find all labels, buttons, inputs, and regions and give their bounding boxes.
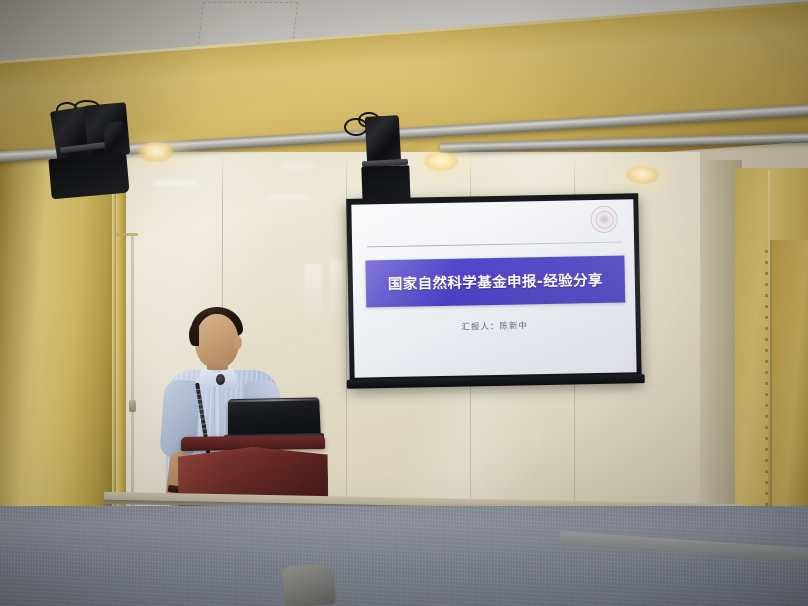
institution-seal-icon: [590, 206, 618, 234]
laptop-lid-highlight: [228, 398, 319, 402]
stage-light-cluster-left: [44, 100, 174, 210]
door-top-edge: [116, 233, 138, 236]
wall-light-reflection: [268, 194, 308, 201]
slide-surface: 国家自然科学基金申报-经验分享 汇报人：陈新中: [351, 199, 636, 377]
screen-frame: 国家自然科学基金申报-经验分享 汇报人：陈新中: [346, 193, 642, 387]
downlight-3: [626, 166, 659, 184]
stage-light-body: [103, 121, 125, 152]
barn-door-shade: [48, 153, 129, 200]
stage-light-cluster-right: [342, 110, 452, 210]
hair-side: [189, 324, 199, 346]
right-panel-stud-line: [765, 250, 768, 550]
carpet-texture: [0, 506, 808, 606]
carpet-floor: [0, 506, 808, 606]
slide-title-bar: 国家自然科学基金申报-经验分享: [365, 255, 625, 307]
wall-light-reflection: [280, 164, 314, 170]
lecture-hall-photo: 国家自然科学基金申报-经验分享 汇报人：陈新中: [0, 0, 808, 606]
bag-on-floor: [282, 564, 336, 606]
slide-title: 国家自然科学基金申报-经验分享: [388, 269, 603, 294]
door-jamb: [116, 150, 126, 550]
door-edge-line: [131, 236, 134, 536]
slide-divider: [367, 242, 622, 248]
slide-presenter-line: 汇报人：陈新中: [354, 317, 636, 334]
projection-screen: 国家自然科学基金申报-经验分享 汇报人：陈新中: [346, 193, 642, 387]
door-handle[interactable]: [129, 400, 136, 412]
microphone-capsule: [216, 374, 225, 385]
ear: [234, 336, 242, 349]
